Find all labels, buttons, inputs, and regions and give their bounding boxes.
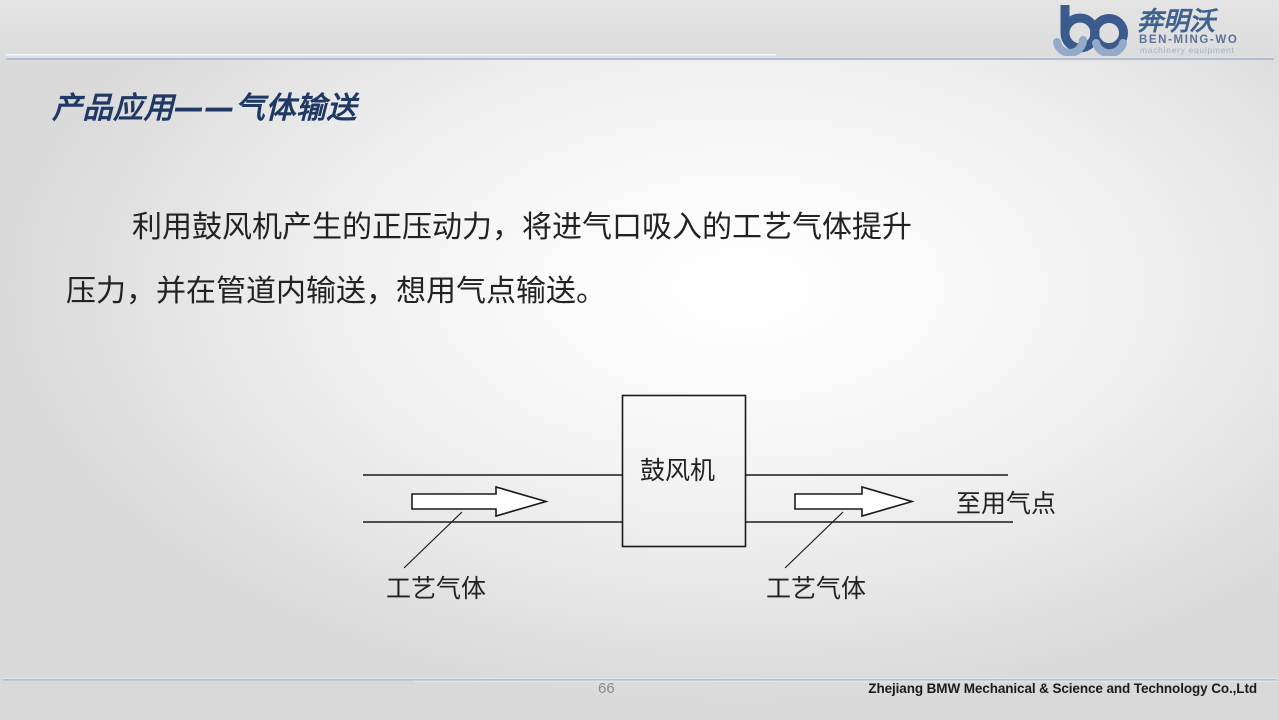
body-line-1: 利用鼓风机产生的正压动力，将进气口吸入的工艺气体提升 [66,196,1066,260]
body-paragraph: 利用鼓风机产生的正压动力，将进气口吸入的工艺气体提升 压力，并在管道内输送，想用… [66,196,1066,324]
body-line-2: 压力，并在管道内输送，想用气点输送。 [66,260,1066,324]
logo-tagline: machinery equipment [1140,45,1235,55]
inlet-gas-label: 工艺气体 [386,569,486,605]
slide-canvas: 奔明沃 BEN-MING-WO machinery equipment 产品应用… [0,0,1279,720]
page-number: 66 [598,680,615,697]
leader-line-right [785,512,843,568]
header-divider [6,57,1274,60]
leader-line-left [404,512,462,568]
footer-company-name: Zhejiang BMW Mechanical & Science and Te… [868,681,1257,696]
destination-label: 至用气点 [956,484,1056,520]
page-title: 产品应用——气体输送 [52,83,357,127]
flow-arrow-right [795,487,912,516]
bo-monogram-icon [1057,5,1124,53]
outlet-gas-label: 工艺气体 [766,569,866,605]
logo-brand-cn: 奔明沃 [1137,7,1219,37]
blower-label: 鼓风机 [640,451,715,487]
flow-arrow-left [412,487,546,516]
company-logo: 奔明沃 BEN-MING-WO machinery equipment [1053,2,1271,56]
